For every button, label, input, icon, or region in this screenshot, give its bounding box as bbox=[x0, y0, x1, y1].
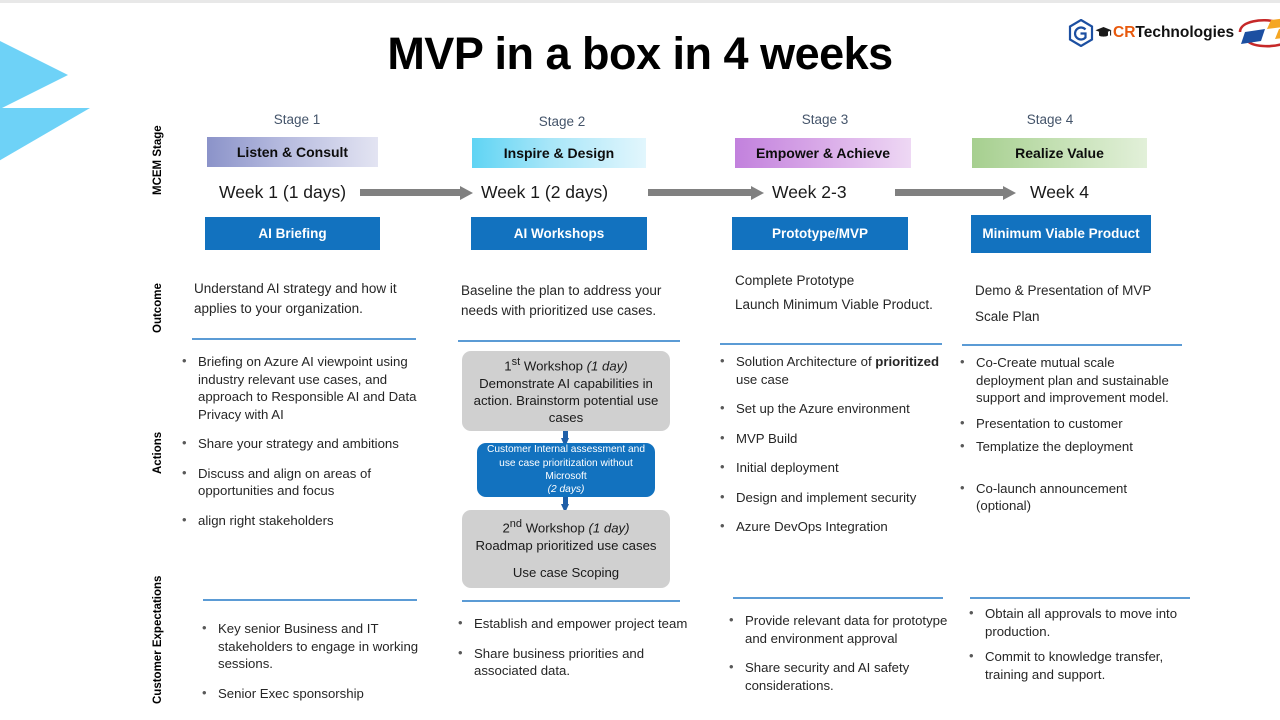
divider-outcome-4 bbox=[962, 344, 1182, 346]
week-label-1: Week 1 (1 days) bbox=[219, 182, 346, 203]
list-item: Co-launch announcement (optional) bbox=[958, 480, 1173, 515]
list-item: Share security and AI safety considerati… bbox=[727, 659, 949, 694]
week-label-4: Week 4 bbox=[1030, 182, 1089, 203]
logo-wordmark: CRTechnologies bbox=[1113, 25, 1234, 41]
list-item: Solution Architecture of prioritized use… bbox=[718, 353, 948, 388]
outcome-line: Launch Minimum Viable Product. bbox=[735, 294, 950, 316]
outcome-text-1: Understand AI strategy and how it applie… bbox=[194, 279, 419, 320]
outcome-line: Understand AI strategy and how it applie… bbox=[194, 279, 419, 318]
outcome-text-3: Complete Prototype Launch Minimum Viable… bbox=[735, 270, 950, 317]
stage-caption-2: Stage 2 bbox=[472, 114, 652, 129]
list-item: Senior Exec sponsorship bbox=[200, 685, 435, 703]
stage-arrow-1-to-2 bbox=[360, 186, 475, 196]
action-text-prefix: Solution Architecture of bbox=[736, 354, 875, 369]
action-bold-word: prioritized bbox=[875, 354, 939, 369]
mcem-bar-3[interactable]: Empower & Achieve bbox=[735, 138, 911, 168]
workshop-word: Workshop bbox=[524, 359, 587, 374]
list-item: Commit to knowledge transfer, training a… bbox=[967, 648, 1189, 683]
divider-expectations-4 bbox=[970, 597, 1190, 599]
stage-arrow-3-to-4 bbox=[895, 186, 1020, 196]
workshop-duration: (1 day) bbox=[589, 520, 630, 535]
outcome-line: Baseline the plan to address your needs … bbox=[461, 281, 679, 320]
mcem-bar-2[interactable]: Inspire & Design bbox=[472, 138, 646, 168]
list-item: Initial deployment bbox=[718, 459, 948, 477]
list-item: MVP Build bbox=[718, 430, 948, 448]
deliverable-box-3[interactable]: Prototype/MVP bbox=[732, 217, 908, 250]
outcome-text-2: Baseline the plan to address your needs … bbox=[461, 281, 679, 322]
workshop-word: Workshop bbox=[526, 520, 589, 535]
stage-arrow-2-to-3 bbox=[648, 186, 766, 196]
list-item: Provide relevant data for prototype and … bbox=[727, 612, 949, 647]
list-item: Set up the Azure environment bbox=[718, 400, 948, 418]
mcem-bar-1[interactable]: Listen & Consult bbox=[207, 137, 378, 167]
list-item: Share your strategy and ambitions bbox=[180, 435, 430, 453]
row-label-customer-expectations: Customer Expectations bbox=[152, 565, 164, 715]
stage-caption-4: Stage 4 bbox=[960, 112, 1140, 127]
action-text-suffix: use case bbox=[736, 372, 789, 387]
divider-expectations-2 bbox=[462, 600, 680, 602]
workshop-duration: (1 day) bbox=[587, 359, 628, 374]
row-label-outcome: Outcome bbox=[152, 272, 164, 344]
divider-outcome-1 bbox=[192, 338, 416, 340]
internal-assessment-body: Customer Internal assessment and use cas… bbox=[485, 443, 647, 483]
expectations-list-1: Key senior Business and IT stakeholders … bbox=[200, 620, 435, 714]
list-item: Design and implement security bbox=[718, 489, 948, 507]
decorative-triangle-light-blue bbox=[0, 108, 90, 166]
workshop-box-2-extra: Use case Scoping bbox=[513, 564, 619, 581]
expectations-list-2: Establish and empower project team Share… bbox=[456, 615, 691, 692]
workshop-box-1[interactable]: 1st Workshop (1 day) Demonstrate AI capa… bbox=[462, 351, 670, 431]
workshop-box-2-body: Roadmap prioritized use cases bbox=[475, 537, 656, 554]
workshop-box-1-title: 1st Workshop (1 day) bbox=[504, 355, 627, 375]
internal-assessment-duration: (2 days) bbox=[548, 484, 585, 495]
expectations-list-4: Obtain all approvals to move into produc… bbox=[967, 605, 1189, 695]
deliverable-box-2[interactable]: AI Workshops bbox=[471, 217, 647, 250]
expectations-list-3: Provide relevant data for prototype and … bbox=[727, 612, 949, 706]
internal-assessment-box[interactable]: Customer Internal assessment and use cas… bbox=[477, 443, 655, 497]
actions-list-3: Solution Architecture of prioritized use… bbox=[718, 353, 948, 548]
outcome-text-4: Demo & Presentation of MVP Scale Plan bbox=[975, 279, 1190, 330]
week-label-2: Week 1 (2 days) bbox=[481, 182, 608, 203]
list-item: Share business priorities and associated… bbox=[456, 645, 691, 680]
list-item: Discuss and align on areas of opportunit… bbox=[180, 465, 430, 500]
actions-list-4: Co-Create mutual scale deployment plan a… bbox=[958, 354, 1173, 527]
workshop-sup: st bbox=[512, 356, 521, 368]
list-item: Obtain all approvals to move into produc… bbox=[967, 605, 1189, 640]
workshop-box-2[interactable]: 2nd Workshop (1 day) Roadmap prioritized… bbox=[462, 510, 670, 588]
deliverable-box-1[interactable]: AI Briefing bbox=[205, 217, 380, 250]
workshop-sup: nd bbox=[510, 518, 522, 530]
row-label-mcem-stage: MCEM Stage bbox=[152, 120, 164, 200]
divider-expectations-1 bbox=[203, 599, 417, 601]
hexagon-g-icon bbox=[1068, 19, 1094, 47]
workshop-num: 2 bbox=[502, 520, 509, 535]
row-label-actions: Actions bbox=[152, 420, 164, 485]
slide-canvas: MVP in a box in 4 weeks CRTechnologies bbox=[0, 0, 1280, 720]
workshop-num: 1 bbox=[504, 359, 511, 374]
outcome-line: Scale Plan bbox=[975, 305, 1190, 329]
list-item: Key senior Business and IT stakeholders … bbox=[200, 620, 435, 673]
swoosh-icon bbox=[1237, 16, 1280, 50]
list-item: Presentation to customer bbox=[958, 415, 1173, 433]
divider-outcome-2 bbox=[458, 340, 680, 342]
top-border-line bbox=[0, 0, 1280, 3]
outcome-line: Demo & Presentation of MVP bbox=[975, 279, 1190, 303]
list-item: Co-Create mutual scale deployment plan a… bbox=[958, 354, 1173, 407]
logo-technologies-text: Technologies bbox=[1135, 24, 1234, 41]
graduation-cap-icon bbox=[1095, 26, 1112, 40]
list-item: align right stakeholders bbox=[180, 512, 430, 530]
workshop-box-1-body: Demonstrate AI capabilities in action. B… bbox=[472, 375, 660, 426]
actions-list-1: Briefing on Azure AI viewpoint using ind… bbox=[180, 353, 430, 541]
mcem-bar-4[interactable]: Realize Value bbox=[972, 138, 1147, 168]
list-item: Establish and empower project team bbox=[456, 615, 691, 633]
stage-caption-1: Stage 1 bbox=[207, 112, 387, 127]
logo-cr-text: CR bbox=[1113, 24, 1135, 41]
deliverable-box-4[interactable]: Minimum Viable Product bbox=[971, 215, 1151, 253]
week-label-3: Week 2-3 bbox=[772, 182, 847, 203]
outcome-line: Complete Prototype bbox=[735, 270, 950, 292]
stage-caption-3: Stage 3 bbox=[735, 112, 915, 127]
list-item: Azure DevOps Integration bbox=[718, 518, 948, 536]
divider-outcome-3 bbox=[720, 343, 942, 345]
divider-expectations-3 bbox=[733, 597, 943, 599]
list-item: Briefing on Azure AI viewpoint using ind… bbox=[180, 353, 430, 423]
brand-logo: CRTechnologies ® bbox=[1068, 14, 1272, 52]
list-item: Templatize the deployment bbox=[958, 438, 1173, 456]
workshop-box-2-title: 2nd Workshop (1 day) bbox=[502, 517, 629, 537]
